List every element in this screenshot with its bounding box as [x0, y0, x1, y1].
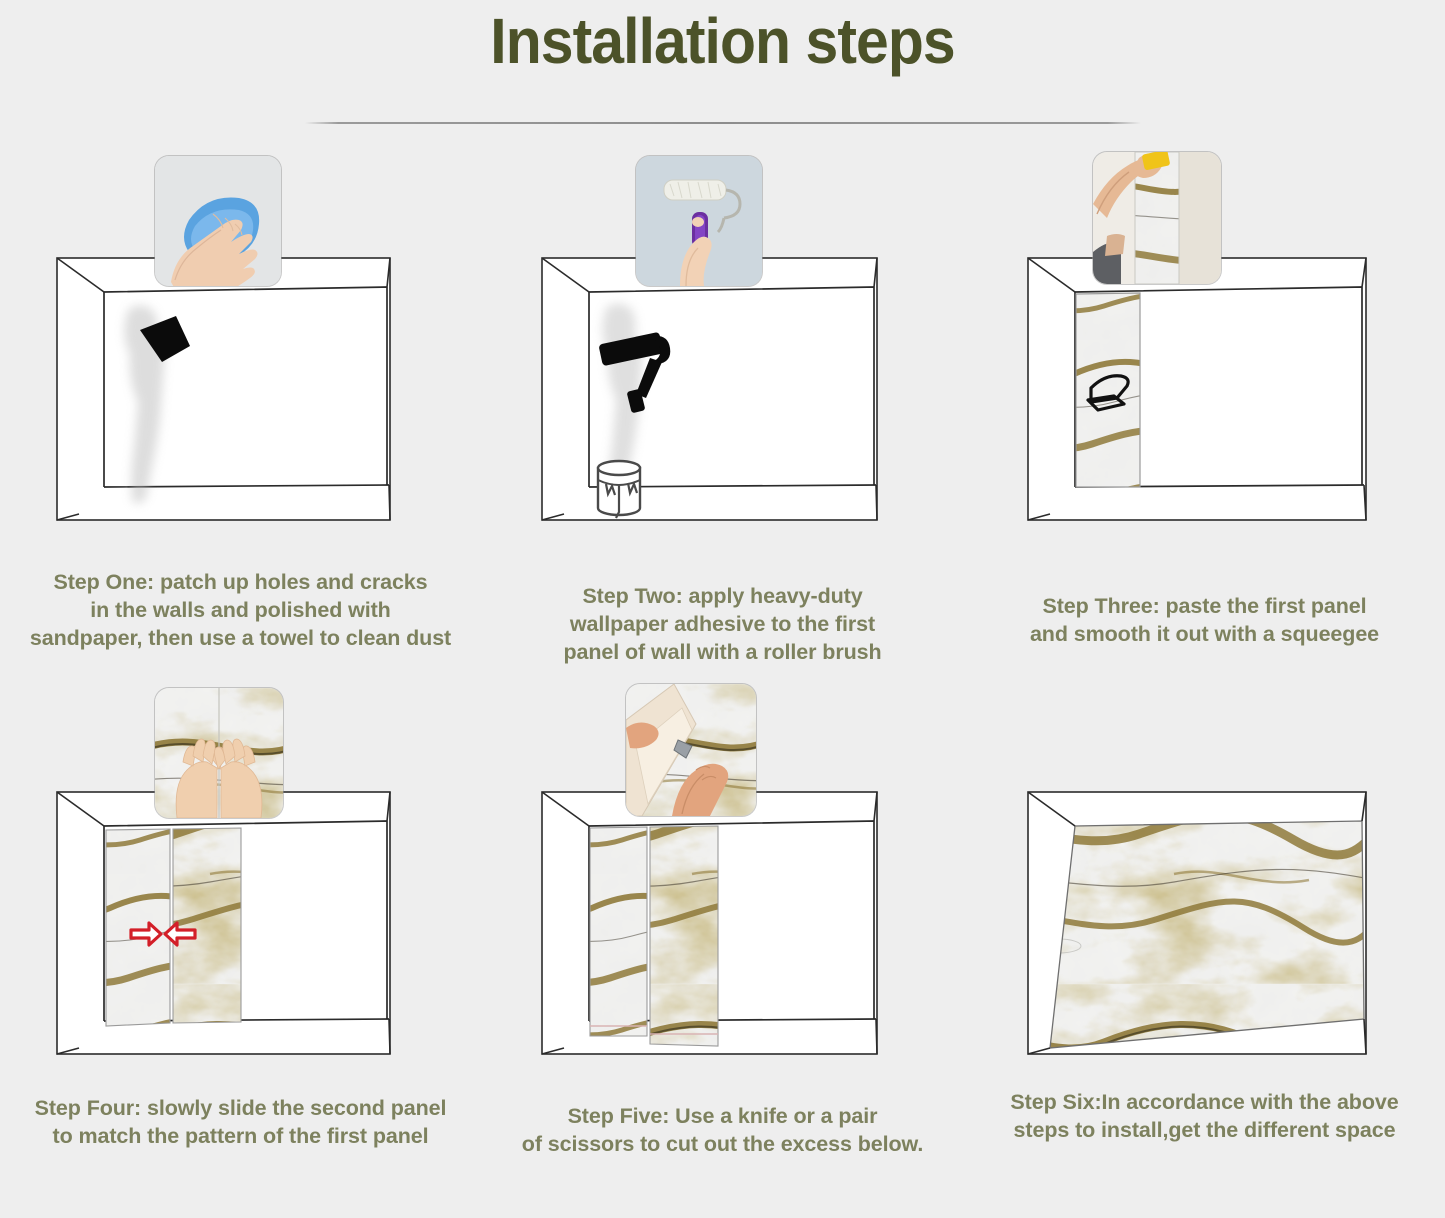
step-six-illustration: [964, 684, 1445, 1084]
wallpaper-panel-1: [106, 829, 170, 1026]
step-card-one: Step One: patch up holes and cracks in t…: [0, 150, 481, 684]
page-title: Installation steps: [58, 4, 1387, 78]
step-five-caption: Step Five: Use a knife or a pair of scis…: [482, 1102, 963, 1158]
inset-two-hands-on-seam: [155, 688, 283, 818]
inset-paint-roller: [636, 156, 762, 286]
step-six-caption: Step Six:In accordance with the above st…: [964, 1088, 1445, 1144]
step-card-five: Step Five: Use a knife or a pair of scis…: [482, 684, 963, 1218]
wallpaper-panel-2: [650, 826, 718, 1046]
inset-hand-with-blue-cloth: [155, 156, 281, 286]
step-two-illustration: [482, 150, 963, 550]
step-one-illustration: [0, 150, 481, 550]
installation-steps-page: Installation steps: [0, 0, 1445, 1217]
step-card-four: Step Four: slowly slide the second panel…: [0, 684, 481, 1218]
wallpaper-full-wall: [1050, 821, 1364, 1048]
wallpaper-panel-2: [173, 828, 241, 1023]
steps-row-top: Step One: patch up holes and cracks in t…: [0, 150, 1445, 684]
step-five-illustration: [482, 684, 963, 1084]
step-one-caption: Step One: patch up holes and cracks in t…: [0, 568, 481, 652]
step-four-illustration: [0, 684, 481, 1084]
step-four-caption: Step Four: slowly slide the second panel…: [0, 1094, 481, 1150]
wallpaper-panel-1: [1076, 293, 1140, 487]
inset-person-squeegee: [1093, 152, 1221, 284]
step-two-caption: Step Two: apply heavy-duty wallpaper adh…: [482, 582, 963, 666]
step-three-caption: Step Three: paste the first panel and sm…: [964, 592, 1445, 648]
step-card-two: Step Two: apply heavy-duty wallpaper adh…: [482, 150, 963, 684]
title-divider: [305, 122, 1141, 124]
room-diagram-six: [964, 684, 1445, 1084]
steps-row-bottom: Step Four: slowly slide the second panel…: [0, 684, 1445, 1204]
step-three-illustration: [964, 150, 1445, 550]
step-card-six: Step Six:In accordance with the above st…: [964, 684, 1445, 1218]
steps-grid: Step One: patch up holes and cracks in t…: [0, 150, 1445, 1204]
step-card-three: Step Three: paste the first panel and sm…: [964, 150, 1445, 684]
wallpaper-panel-1: [590, 827, 647, 1036]
inset-hand-cutting-knife: [626, 684, 756, 816]
